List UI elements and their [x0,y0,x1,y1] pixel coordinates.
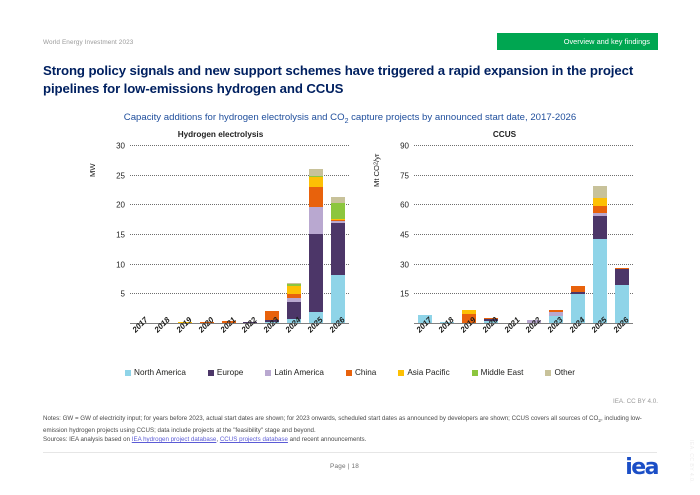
legend-swatch-icon [265,370,271,376]
bars-hydrogen [130,146,349,323]
bar-group [240,146,262,323]
link-hydrogen-database[interactable]: IEA hydrogen project database [132,436,217,443]
stacked-bar[interactable] [309,169,323,323]
sources-prefix: Sources: IEA analysis based on [43,436,132,443]
y-axis-tick-label: 15 [400,290,409,299]
bar-group [130,146,152,323]
legend-swatch-icon [125,370,131,376]
bar-segment [309,187,323,206]
chart-panel-ccus: CCUS Mt CO2/yr 153045607590 201720182019… [372,130,637,335]
x-axis-label: 2021 [218,326,240,366]
bar-group [174,146,196,323]
legend-swatch-icon [208,370,214,376]
section-badge: Overview and key findings [497,33,658,50]
bar-group [283,146,305,323]
legend-item-north-america[interactable]: North America [125,368,186,377]
bar-segment [331,203,345,219]
bar-group [480,146,502,323]
bar-group [196,146,218,323]
bar-group [545,146,567,323]
x-axis-label: 2017 [130,326,152,366]
y-axis-unit-ccus: Mt CO2/yr [372,144,381,196]
bar-group [436,146,458,323]
legend-item-europe[interactable]: Europe [208,368,243,377]
legend-item-asia-pacific[interactable]: Asia Pacific [398,368,449,377]
legend-item-china[interactable]: China [346,368,376,377]
bar-group [218,146,240,323]
y-axis-tick-label: 45 [400,231,409,240]
report-label: World Energy Investment 2023 [43,39,133,46]
chart-heading-suffix: capture projects by announced start date… [348,112,576,123]
x-axis-label: 2021 [502,326,524,366]
bar-segment [593,216,607,240]
bar-segment [309,207,323,234]
bars-ccus [414,146,633,323]
y-axis-tick-label: 5 [121,290,125,299]
sources-line: Sources: IEA analysis based on IEA hydro… [43,435,655,445]
legend-swatch-icon [472,370,478,376]
bar-segment [593,198,607,206]
chart-heading-prefix: Capacity additions for hydrogen electrol… [124,112,345,123]
x-axis-label: 2025 [589,326,611,366]
side-cc-note: IEA. CC BY 4.0. [688,440,694,483]
legend-item-middle-east[interactable]: Middle East [472,368,524,377]
link-ccus-database[interactable]: CCUS projects database [220,436,288,443]
chart-panel-hydrogen: Hydrogen electrolysis MW 51015202530 201… [88,130,353,335]
stacked-bar[interactable] [593,186,607,323]
legend-swatch-icon [545,370,551,376]
x-axis-label: 2023 [545,326,567,366]
legend-swatch-icon [346,370,352,376]
bar-segment [331,223,345,275]
x-axis-label: 2022 [524,326,546,366]
page-title: Strong policy signals and new support sc… [43,62,659,98]
bar-group [305,146,327,323]
y-axis-tick-label: 60 [400,201,409,210]
bar-group [611,146,633,323]
plot-area-ccus: 153045607590 [414,146,633,324]
bar-segment [287,286,301,294]
legend-label: Other [554,368,574,377]
y-axis-tick-label: 30 [116,142,125,151]
legend-label: China [355,368,376,377]
y-axis-tick-label: 75 [400,171,409,180]
bar-group [152,146,174,323]
stacked-bar[interactable] [331,197,345,323]
bar-segment [615,269,629,285]
chart-heading: Capacity additions for hydrogen electrol… [0,112,700,125]
y-axis-tick-label: 25 [116,171,125,180]
bar-segment [309,234,323,312]
x-axis-label: 2019 [174,326,196,366]
y-axis-tick-label: 90 [400,142,409,151]
y-axis-tick-label: 15 [116,231,125,240]
chart-legend: North AmericaEuropeLatin AmericaChinaAsi… [0,368,700,377]
panel-title-hydrogen: Hydrogen electrolysis [88,130,353,139]
x-axis-label: 2018 [152,326,174,366]
sources-suffix: and recent announcements. [288,436,366,443]
legend-item-latin-america[interactable]: Latin America [265,368,324,377]
bar-group [524,146,546,323]
y-axis-tick-label: 20 [116,201,125,210]
bar-group [458,146,480,323]
bar-group [327,146,349,323]
y-axis-unit-hydrogen: MW [88,144,97,196]
x-axis-label: 2019 [458,326,480,366]
cc-license-note: IEA. CC BY 4.0. [613,398,658,405]
notes-line: Notes: GW = GW of electricity input; for… [43,414,655,435]
x-axis-label: 2023 [261,326,283,366]
bar-segment [593,239,607,323]
x-axis-label: 2025 [305,326,327,366]
x-axis-label: 2017 [414,326,436,366]
x-axis-labels-hydrogen: 2017201820192020202120222023202420252026 [130,326,349,366]
legend-label: Europe [217,368,243,377]
y-axis-tick-label: 30 [400,260,409,269]
footnotes: Notes: GW = GW of electricity input; for… [43,414,655,445]
footer-divider [43,452,657,453]
x-axis-label: 2026 [611,326,633,366]
legend-label: Latin America [274,368,324,377]
notes-text-a: Notes: GW = GW of electricity input; for… [43,415,598,422]
x-axis-label: 2024 [283,326,305,366]
legend-label: Asia Pacific [407,368,449,377]
bar-group [261,146,283,323]
x-axis-label: 2020 [480,326,502,366]
stacked-bar[interactable] [615,268,629,323]
x-axis-labels-ccus: 2017201820192020202120222023202420252026 [414,326,633,366]
bar-segment [593,206,607,213]
x-axis-label: 2018 [436,326,458,366]
legend-swatch-icon [398,370,404,376]
legend-label: Middle East [481,368,524,377]
bar-group [502,146,524,323]
page-number: Page | 18 [330,463,359,470]
iea-logo: iea [625,455,658,480]
panel-title-ccus: CCUS [372,130,637,139]
x-axis-label: 2024 [567,326,589,366]
x-axis-label: 2026 [327,326,349,366]
plot-area-hydrogen: 51015202530 [130,146,349,324]
x-axis-label: 2022 [240,326,262,366]
slide-root: World Energy Investment 2023 Overview an… [0,0,700,495]
y-axis-tick-label: 10 [116,260,125,269]
section-badge-label: Overview and key findings [564,37,650,46]
x-axis-label: 2020 [196,326,218,366]
legend-label: North America [134,368,186,377]
bar-segment [593,186,607,198]
bar-group [589,146,611,323]
bar-group [567,146,589,323]
bar-segment [309,177,323,188]
legend-item-other[interactable]: Other [545,368,574,377]
bar-group [414,146,436,323]
